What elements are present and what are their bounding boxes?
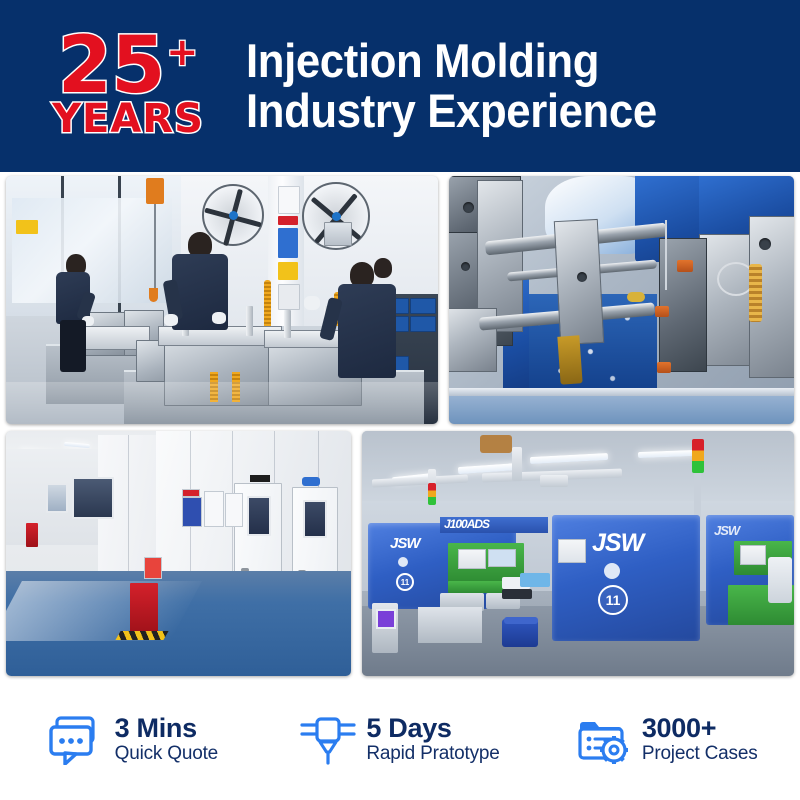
feature-project-cases-label: Project Cases <box>642 743 758 766</box>
mold-half-center <box>554 219 604 345</box>
machine-brand-center: JSW <box>592 529 643 558</box>
white-sacks <box>768 557 792 603</box>
machine-number-badge: 11 <box>598 585 628 615</box>
workshop-hoist-cable <box>154 204 156 292</box>
fire-cabinet-far <box>26 523 38 547</box>
feature-project-cases[interactable]: 3000+ Project Cases <box>533 714 800 766</box>
corridor-floor-wrap <box>6 571 351 676</box>
years-badge-number: 25 <box>58 29 165 103</box>
photo-2-scene <box>449 176 794 424</box>
photo-jsw-molding-machines: JSW 11 J100ADS JSW 11 JSW <box>362 431 794 676</box>
page-title: Injection Molding Industry Experience <box>246 36 688 136</box>
fire-cabinet-near <box>130 583 158 635</box>
feature-quick-quote[interactable]: 3 Mins Quick Quote <box>0 714 267 766</box>
mold-pin-2 <box>246 306 253 336</box>
machine-clip <box>627 292 645 302</box>
folder-gear-icon <box>576 715 632 765</box>
machine-model-label: J100ADS <box>440 517 548 533</box>
corridor-window-far <box>46 483 68 513</box>
machine-rail-highlight <box>449 388 794 396</box>
wall-sign-1 <box>278 186 300 214</box>
notice-sheet-1 <box>204 491 224 527</box>
feature-bar: 3 Mins Quick Quote 5 Days Rapid Prato <box>0 680 800 800</box>
bench-cabinet <box>418 607 482 643</box>
bench-document-left-2 <box>488 549 516 567</box>
wall-safety-sign <box>144 557 162 579</box>
page-title-line-1: Injection Molding <box>246 36 657 86</box>
banner-header: 25 + YEARS Injection Molding Industry Ex… <box>0 0 800 172</box>
photo-gallery: JSW 11 J100ADS JSW 11 JSW <box>0 172 800 680</box>
feature-project-cases-value: 3000+ <box>642 714 758 742</box>
workshop-glass <box>12 198 172 303</box>
wall-sign-5 <box>278 284 300 310</box>
years-badge: 25 + YEARS <box>28 29 228 139</box>
chat-bubbles-icon <box>49 715 105 765</box>
floor-sheen <box>6 382 438 424</box>
years-badge-label: YEARS <box>52 99 204 139</box>
feature-project-cases-text: 3000+ Project Cases <box>642 714 758 766</box>
molding-machine-center: JSW 11 <box>552 515 700 641</box>
feature-rapid-prototype-value: 5 Days <box>366 714 499 742</box>
feature-rapid-prototype-label: Rapid Pratotype <box>366 743 499 766</box>
wall-fan-left-icon <box>202 184 264 246</box>
workshop-hoist-hook <box>149 288 158 302</box>
wall-electrical-box <box>324 222 352 246</box>
printer-nozzle-icon <box>300 715 356 765</box>
wall-sign-4 <box>278 262 298 280</box>
mold-core-gold <box>557 335 582 384</box>
blue-parts-tray <box>520 573 550 587</box>
notice-red <box>182 489 200 497</box>
notice-sheet-2 <box>225 493 243 527</box>
control-screen <box>376 609 396 629</box>
andon-tower-left <box>428 483 436 505</box>
overhead-hoist <box>480 435 512 453</box>
photo-injection-machine-closeup <box>449 176 794 424</box>
floor-hazard-marking <box>115 631 168 640</box>
robot-column-1 <box>512 447 522 481</box>
door-indicator-light <box>302 477 320 486</box>
machine-brand-right: JSW <box>714 523 739 538</box>
floor-reflection <box>6 581 202 641</box>
bench-document-left <box>458 549 486 569</box>
machine-brand-left: JSW <box>390 535 420 552</box>
wall-sign-2 <box>278 216 298 225</box>
scale-display <box>502 589 532 599</box>
feature-rapid-prototype[interactable]: 5 Days Rapid Pratotype <box>267 714 534 766</box>
years-badge-number-row: 25 + <box>58 29 198 103</box>
door-sign-1 <box>250 475 270 482</box>
andon-tower-right <box>692 439 704 473</box>
feature-quick-quote-text: 3 Mins Quick Quote <box>115 714 218 766</box>
stool-seat <box>504 617 538 624</box>
feature-rapid-prototype-text: 5 Days Rapid Pratotype <box>366 714 499 766</box>
photo-1-scene <box>6 176 438 424</box>
workshop-hoist <box>146 178 164 204</box>
page-title-line-2: Industry Experience <box>246 86 657 136</box>
wall-sign-3 <box>278 228 298 258</box>
promo-banner: 25 + YEARS Injection Molding Industry Ex… <box>0 0 800 800</box>
photo-mold-assembly-workshop <box>6 176 438 424</box>
photo-4-scene: JSW 11 J100ADS JSW 11 JSW <box>362 431 794 676</box>
robot-head <box>540 475 568 487</box>
mold-pin-3 <box>284 310 291 338</box>
corridor-window-near <box>72 477 114 519</box>
machine-wire <box>665 220 667 290</box>
photo-cleanroom-corridor <box>6 431 351 676</box>
bench-document-right <box>740 545 766 565</box>
wall-sign-6 <box>16 220 38 234</box>
feature-quick-quote-label: Quick Quote <box>115 743 218 766</box>
years-badge-plus: + <box>166 33 198 71</box>
feature-quick-quote-value: 3 Mins <box>115 714 218 742</box>
notice-board-blue <box>182 497 202 527</box>
photo-3-scene <box>6 431 351 676</box>
